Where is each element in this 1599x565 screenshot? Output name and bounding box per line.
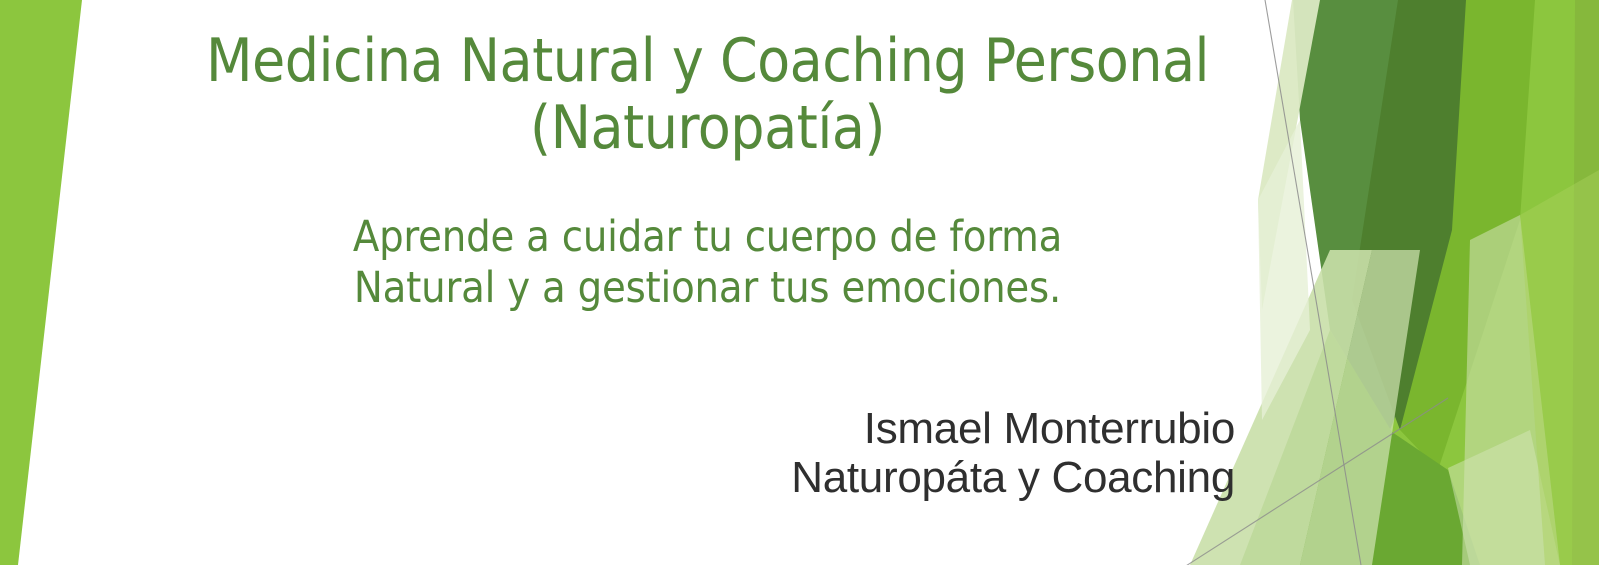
- facet-right-edge-sliver: [1572, 0, 1599, 565]
- author-placeholder[interactable]: Ismael Monterrubio Naturopáta y Coaching: [300, 404, 1235, 503]
- facet-highlight-sheen: [1520, 170, 1599, 565]
- facet-pale-sheet-right: [1462, 215, 1560, 565]
- title-placeholder[interactable]: Medicina Natural y Coaching Personal (Na…: [120, 28, 1295, 162]
- subtitle-placeholder[interactable]: Aprende a cuidar tu cuerpo de forma Natu…: [120, 212, 1295, 313]
- facet-deep-inner-wedge: [1352, 0, 1470, 430]
- facet-pale-band-center: [1300, 250, 1420, 565]
- slide-title: Medicina Natural y Coaching Personal (Na…: [120, 28, 1295, 162]
- slide-subtitle: Aprende a cuidar tu cuerpo de forma Natu…: [120, 212, 1295, 313]
- facet-pale-triangle-bottom: [1448, 430, 1560, 565]
- slide-text-area: Medicina Natural y Coaching Personal (Na…: [0, 0, 1290, 565]
- facet-right-base: [1300, 0, 1599, 565]
- author-name: Ismael Monterrubio: [300, 404, 1235, 453]
- presentation-slide: Medicina Natural y Coaching Personal (Na…: [0, 0, 1599, 565]
- facet-dark-left-lobe: [1293, 0, 1462, 430]
- facet-bright-right-lobe: [1400, 0, 1535, 470]
- author-role: Naturopáta y Coaching: [300, 453, 1235, 502]
